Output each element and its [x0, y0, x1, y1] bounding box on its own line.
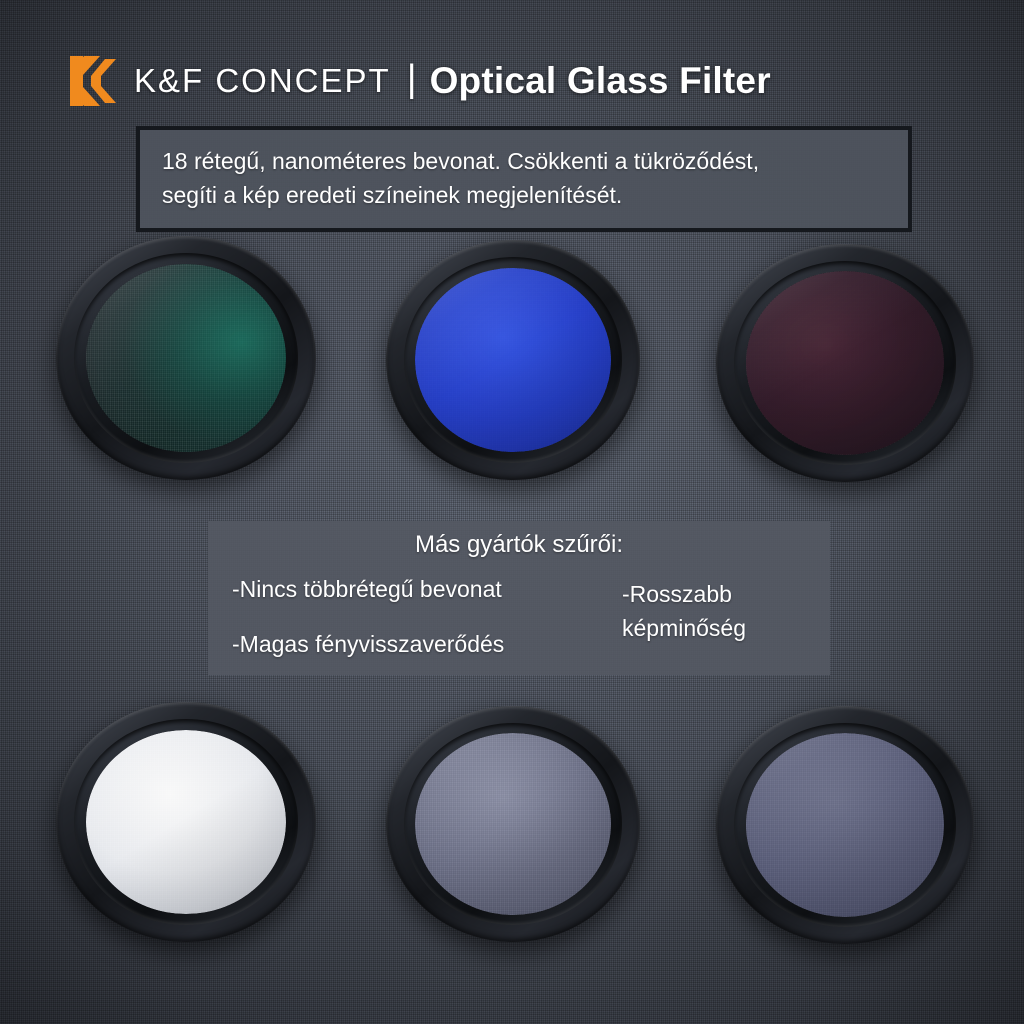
filter-glass — [86, 264, 286, 452]
blue-filter — [386, 240, 640, 480]
comparison-title: Más gyártók szűrői: — [208, 531, 830, 559]
kf-logo-icon — [70, 56, 116, 106]
description-box: 18 rétegű, nanométeres bevonat. Csökkent… — [136, 126, 912, 232]
filter-glass — [746, 733, 945, 916]
comparison-bullet: -Rosszabb képminőség — [622, 577, 822, 645]
slate-filter — [716, 706, 974, 944]
filter-glass — [415, 733, 611, 915]
filter-glass — [415, 268, 611, 453]
filter-glass — [746, 271, 945, 454]
filter-tint-blue — [415, 268, 611, 453]
comparison-right-column: -Rosszabb képminőség — [622, 577, 822, 645]
filter-tint-slate — [746, 733, 945, 916]
description-line-1: 18 rétegű, nanométeres bevonat. Csökkent… — [162, 144, 886, 178]
description-line-2: segíti a kép eredeti színeinek megjelení… — [162, 178, 886, 212]
product-name: Optical Glass Filter — [430, 60, 771, 102]
filter-tint-green — [86, 264, 286, 452]
header-divider: | — [407, 60, 417, 98]
comparison-bullet: -Nincs többrétegű bevonat — [232, 575, 602, 604]
lavender-haze-filter — [386, 706, 640, 942]
white-glare-filter — [56, 702, 316, 942]
comparison-left-column: -Nincs többrétegű bevonat -Magas fényvis… — [232, 575, 602, 659]
brand-name: K&F CONCEPT — [134, 62, 391, 100]
filter-tint-white — [86, 730, 286, 915]
filter-tint-lavender — [415, 733, 611, 915]
green-filter — [56, 236, 316, 480]
brand-header: K&F CONCEPT | Optical Glass Filter — [70, 52, 771, 110]
comparison-panel: Más gyártók szűrői: -Nincs többrétegű be… — [208, 521, 830, 675]
filter-tint-purple — [746, 271, 945, 454]
product-banner: K&F CONCEPT | Optical Glass Filter 18 ré… — [0, 0, 1024, 1024]
purple-filter — [716, 244, 974, 482]
comparison-bullet: -Magas fényvisszaverődés — [232, 630, 602, 659]
filter-glass — [86, 730, 286, 915]
